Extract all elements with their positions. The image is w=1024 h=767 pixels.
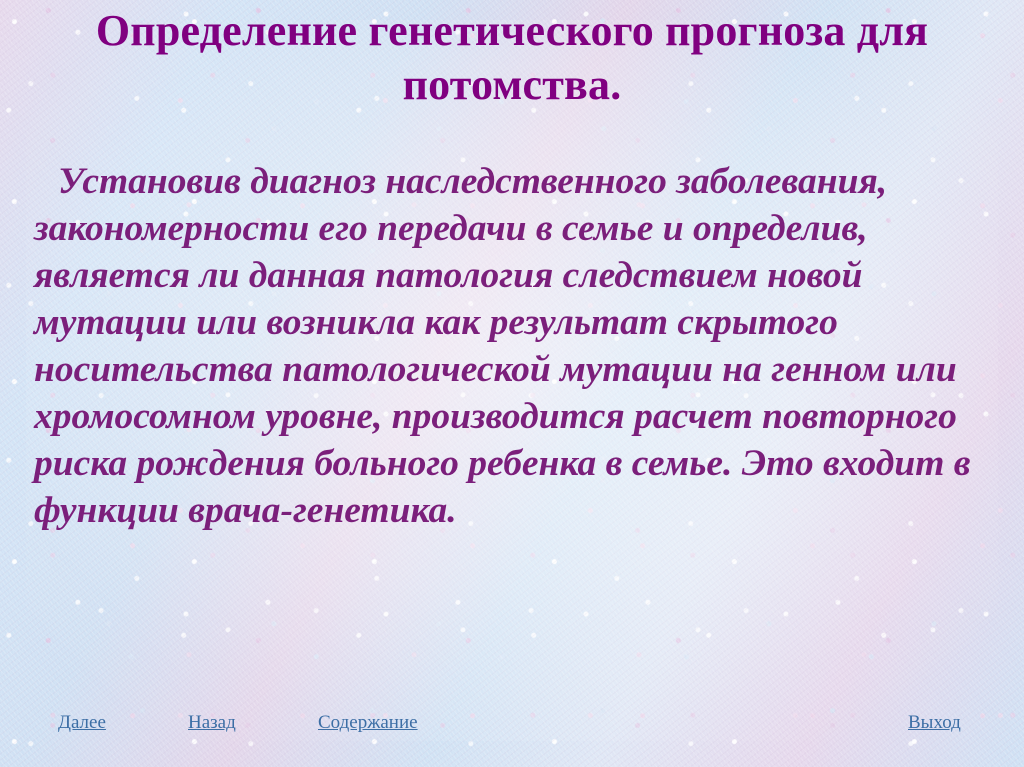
slide-navigation-footer: Далее Назад Содержание Выход [0, 712, 1024, 752]
slide-body-text: Установив диагноз наследственного заболе… [34, 158, 992, 535]
page-title: Определение генетического прогноза для п… [36, 4, 988, 111]
contents-link[interactable]: Содержание [318, 712, 418, 734]
slide-content: Определение генетического прогноза для п… [0, 0, 1024, 767]
presentation-slide: Определение генетического прогноза для п… [0, 0, 1024, 767]
back-link[interactable]: Назад [188, 712, 236, 734]
exit-link[interactable]: Выход [908, 712, 961, 734]
next-link[interactable]: Далее [58, 712, 106, 734]
